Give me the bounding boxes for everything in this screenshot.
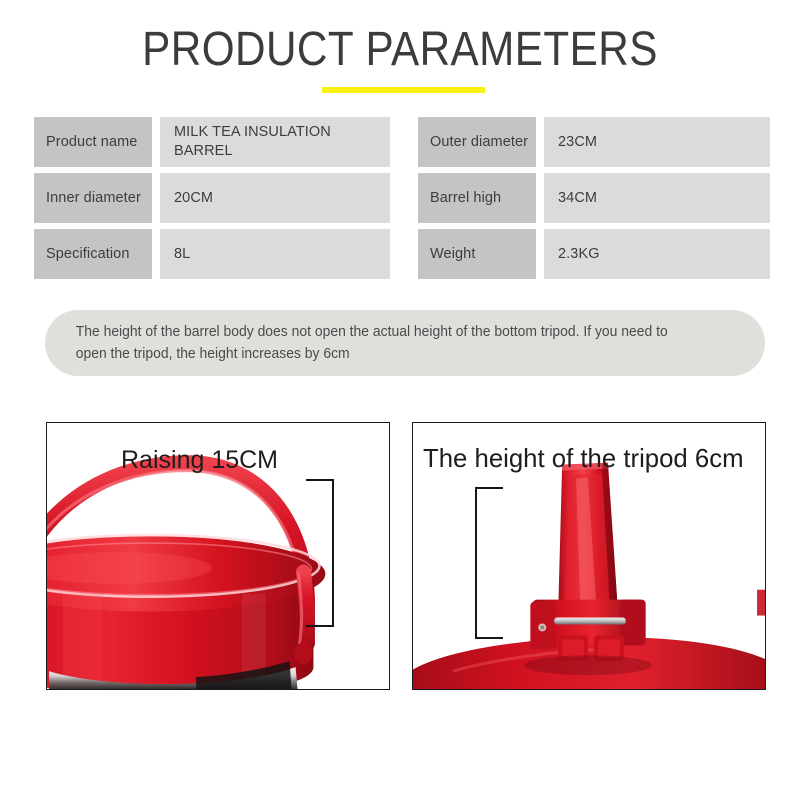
cell-gap bbox=[152, 229, 160, 279]
spec-label: Weight bbox=[418, 229, 536, 279]
table-row: Outer diameter 23CM bbox=[418, 117, 770, 167]
table-row: Weight 2.3KG bbox=[418, 229, 770, 279]
panel-raising-height: Raising 15CM bbox=[46, 422, 390, 690]
page-title: PRODUCT PARAMETERS bbox=[48, 22, 752, 78]
panel-tripod-height: The height of the tripod 6cm bbox=[412, 422, 766, 690]
spec-value: MILK TEA INSULATION BARREL bbox=[160, 117, 390, 167]
table-row: Inner diameter 20CM bbox=[34, 173, 390, 223]
spec-label: Product name bbox=[34, 117, 152, 167]
bracket-arm-top bbox=[475, 487, 503, 489]
table-row: Barrel high 34CM bbox=[418, 173, 770, 223]
cell-gap bbox=[152, 117, 160, 167]
spec-label: Specification bbox=[34, 229, 152, 279]
spec-tables: Product name MILK TEA INSULATION BARREL … bbox=[0, 117, 800, 279]
spec-label: Barrel high bbox=[418, 173, 536, 223]
bracket-spine bbox=[332, 479, 334, 627]
title-underline bbox=[322, 87, 485, 93]
bracket-arm-bottom bbox=[475, 637, 503, 639]
spec-value: 23CM bbox=[544, 117, 770, 167]
bracket-spine bbox=[475, 487, 477, 639]
spec-label: Outer diameter bbox=[418, 117, 536, 167]
bracket-arm-bottom bbox=[306, 625, 334, 627]
cell-gap bbox=[536, 117, 544, 167]
cell-gap bbox=[536, 173, 544, 223]
spec-value: 34CM bbox=[544, 173, 770, 223]
spec-value: 2.3KG bbox=[544, 229, 770, 279]
table-row: Specification 8L bbox=[34, 229, 390, 279]
cell-gap bbox=[152, 173, 160, 223]
panel-title: Raising 15CM bbox=[121, 445, 278, 475]
bracket-arm-top bbox=[306, 479, 334, 481]
table-row: Product name MILK TEA INSULATION BARREL bbox=[34, 117, 390, 167]
measurement-bracket-icon bbox=[475, 487, 505, 639]
panel-title: The height of the tripod 6cm bbox=[423, 443, 744, 473]
spec-value: 8L bbox=[160, 229, 390, 279]
note-banner: The height of the barrel body does not o… bbox=[45, 310, 765, 376]
spec-table-left: Product name MILK TEA INSULATION BARREL … bbox=[34, 117, 390, 285]
spec-value: 20CM bbox=[160, 173, 390, 223]
measurement-bracket-icon bbox=[304, 479, 334, 627]
note-text: The height of the barrel body does not o… bbox=[45, 321, 736, 365]
spec-table-right: Outer diameter 23CM Barrel high 34CM Wei… bbox=[418, 117, 770, 285]
cell-gap bbox=[536, 229, 544, 279]
spec-label: Inner diameter bbox=[34, 173, 152, 223]
